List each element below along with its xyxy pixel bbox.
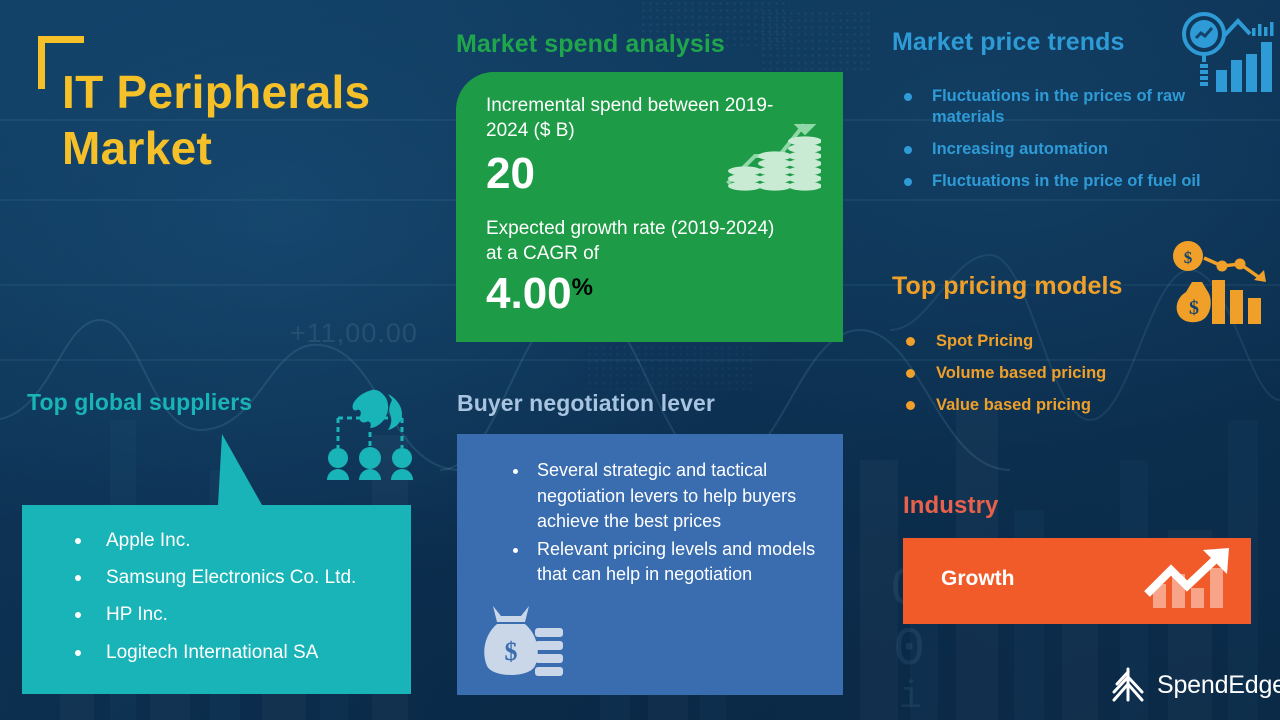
market-spend-card: Incremental spend between 2019-2024 ($ B…: [456, 72, 843, 342]
section-title-market-spend-analysis: Market spend analysis: [456, 30, 725, 59]
list-item: Logitech International SA: [58, 641, 388, 664]
list-item: HP Inc.: [58, 603, 388, 626]
section-title-top-pricing-models: Top pricing models: [892, 272, 1123, 301]
spendedge-logo: SpendEdge ™: [1108, 666, 1280, 704]
market-price-trends-list: Fluctuations in the prices of raw materi…: [896, 86, 1206, 203]
logo-name: SpendEdge: [1157, 671, 1280, 699]
buyer-negotiation-lever-list: Several strategic and tactical negotiati…: [499, 458, 829, 590]
top-global-suppliers-list: Apple Inc. Samsung Electronics Co. Ltd. …: [58, 529, 388, 678]
top-pricing-models-list: Spot Pricing Volume based pricing Value …: [896, 332, 1196, 428]
cagr-value-group: 4.00 %: [486, 272, 593, 316]
money-bag-coins-icon: $: [475, 598, 571, 682]
coins-growth-icon: [725, 110, 821, 194]
background-digit-i: i: [899, 676, 922, 719]
cagr-percent-symbol: %: [572, 274, 593, 302]
list-item: Volume based pricing: [896, 364, 1196, 383]
list-item: Spot Pricing: [896, 332, 1196, 351]
background-ticker-value: +11,00.00: [290, 318, 418, 349]
cagr-label: Expected growth rate (2019-2024) at a CA…: [486, 217, 786, 266]
list-item: Fluctuations in the price of fuel oil: [896, 171, 1206, 192]
section-title-top-global-suppliers: Top global suppliers: [27, 389, 252, 416]
growth-arrow-chart-icon: [1137, 546, 1241, 616]
svg-text:$: $: [505, 637, 518, 666]
industry-growth-value: Growth: [941, 567, 1015, 591]
svg-text:$: $: [1189, 297, 1199, 319]
spendedge-mark-icon: [1108, 666, 1148, 704]
list-item: Several strategic and tactical negotiati…: [499, 458, 829, 535]
cagr-value: 4.00: [486, 272, 572, 316]
list-item: Value based pricing: [896, 396, 1196, 415]
industry-growth-card: Growth: [903, 538, 1251, 624]
incremental-spend-value: 20: [486, 152, 535, 196]
spendedge-wordmark: SpendEdge ™: [1157, 671, 1280, 700]
list-item: Samsung Electronics Co. Ltd.: [58, 566, 388, 589]
money-bag-declining-chart-icon: $ $: [1168, 238, 1272, 330]
section-title-market-price-trends: Market price trends: [892, 28, 1125, 57]
magnifier-bar-chart-icon: [1176, 12, 1274, 98]
background-digit-0b: 0: [893, 620, 925, 681]
list-item: Apple Inc.: [58, 529, 388, 552]
list-item: Relevant pricing levels and models that …: [499, 537, 829, 588]
section-title-industry: Industry: [903, 492, 998, 520]
svg-text:$: $: [1184, 248, 1193, 267]
top-global-suppliers-card: Apple Inc. Samsung Electronics Co. Ltd. …: [22, 434, 411, 694]
list-item: Increasing automation: [896, 139, 1206, 160]
page-title: IT Peripherals Market: [62, 64, 462, 176]
infographic-slide: +11,00.00 0 0 i IT Peripherals Market Ma…: [0, 0, 1280, 720]
list-item: Fluctuations in the prices of raw materi…: [896, 86, 1206, 128]
section-title-buyer-negotiation-lever: Buyer negotiation lever: [457, 390, 715, 417]
buyer-negotiation-lever-card: Several strategic and tactical negotiati…: [457, 434, 843, 695]
